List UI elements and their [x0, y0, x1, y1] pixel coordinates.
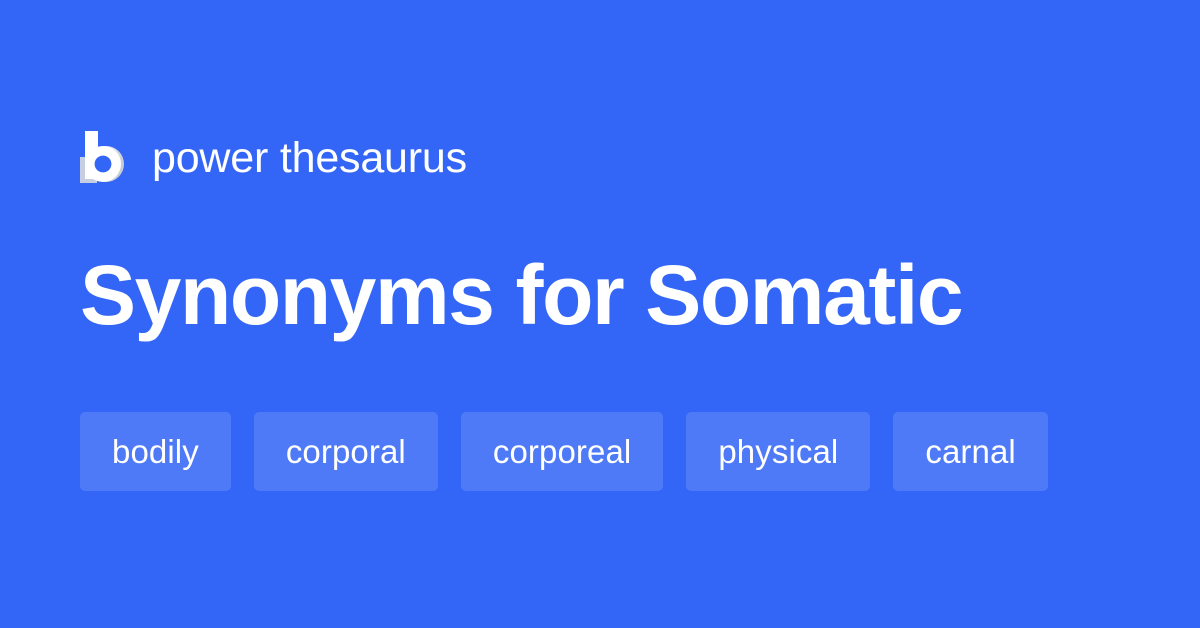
brand-lockup[interactable]: power thesaurus: [80, 128, 467, 186]
synonym-chip[interactable]: bodily: [80, 412, 231, 491]
power-thesaurus-b-logo-icon: [80, 131, 124, 183]
synonym-chip[interactable]: corporeal: [461, 412, 663, 491]
synonym-chip-list: bodily corporal corporeal physical carna…: [80, 412, 1048, 491]
page-title: Synonyms for Somatic: [80, 248, 1120, 342]
share-card: power thesaurus Synonyms for Somatic bod…: [0, 0, 1200, 628]
synonym-chip[interactable]: carnal: [893, 412, 1047, 491]
brand-wordmark: power thesaurus: [152, 137, 467, 180]
synonym-chip[interactable]: physical: [686, 412, 870, 491]
synonym-chip[interactable]: corporal: [254, 412, 438, 491]
